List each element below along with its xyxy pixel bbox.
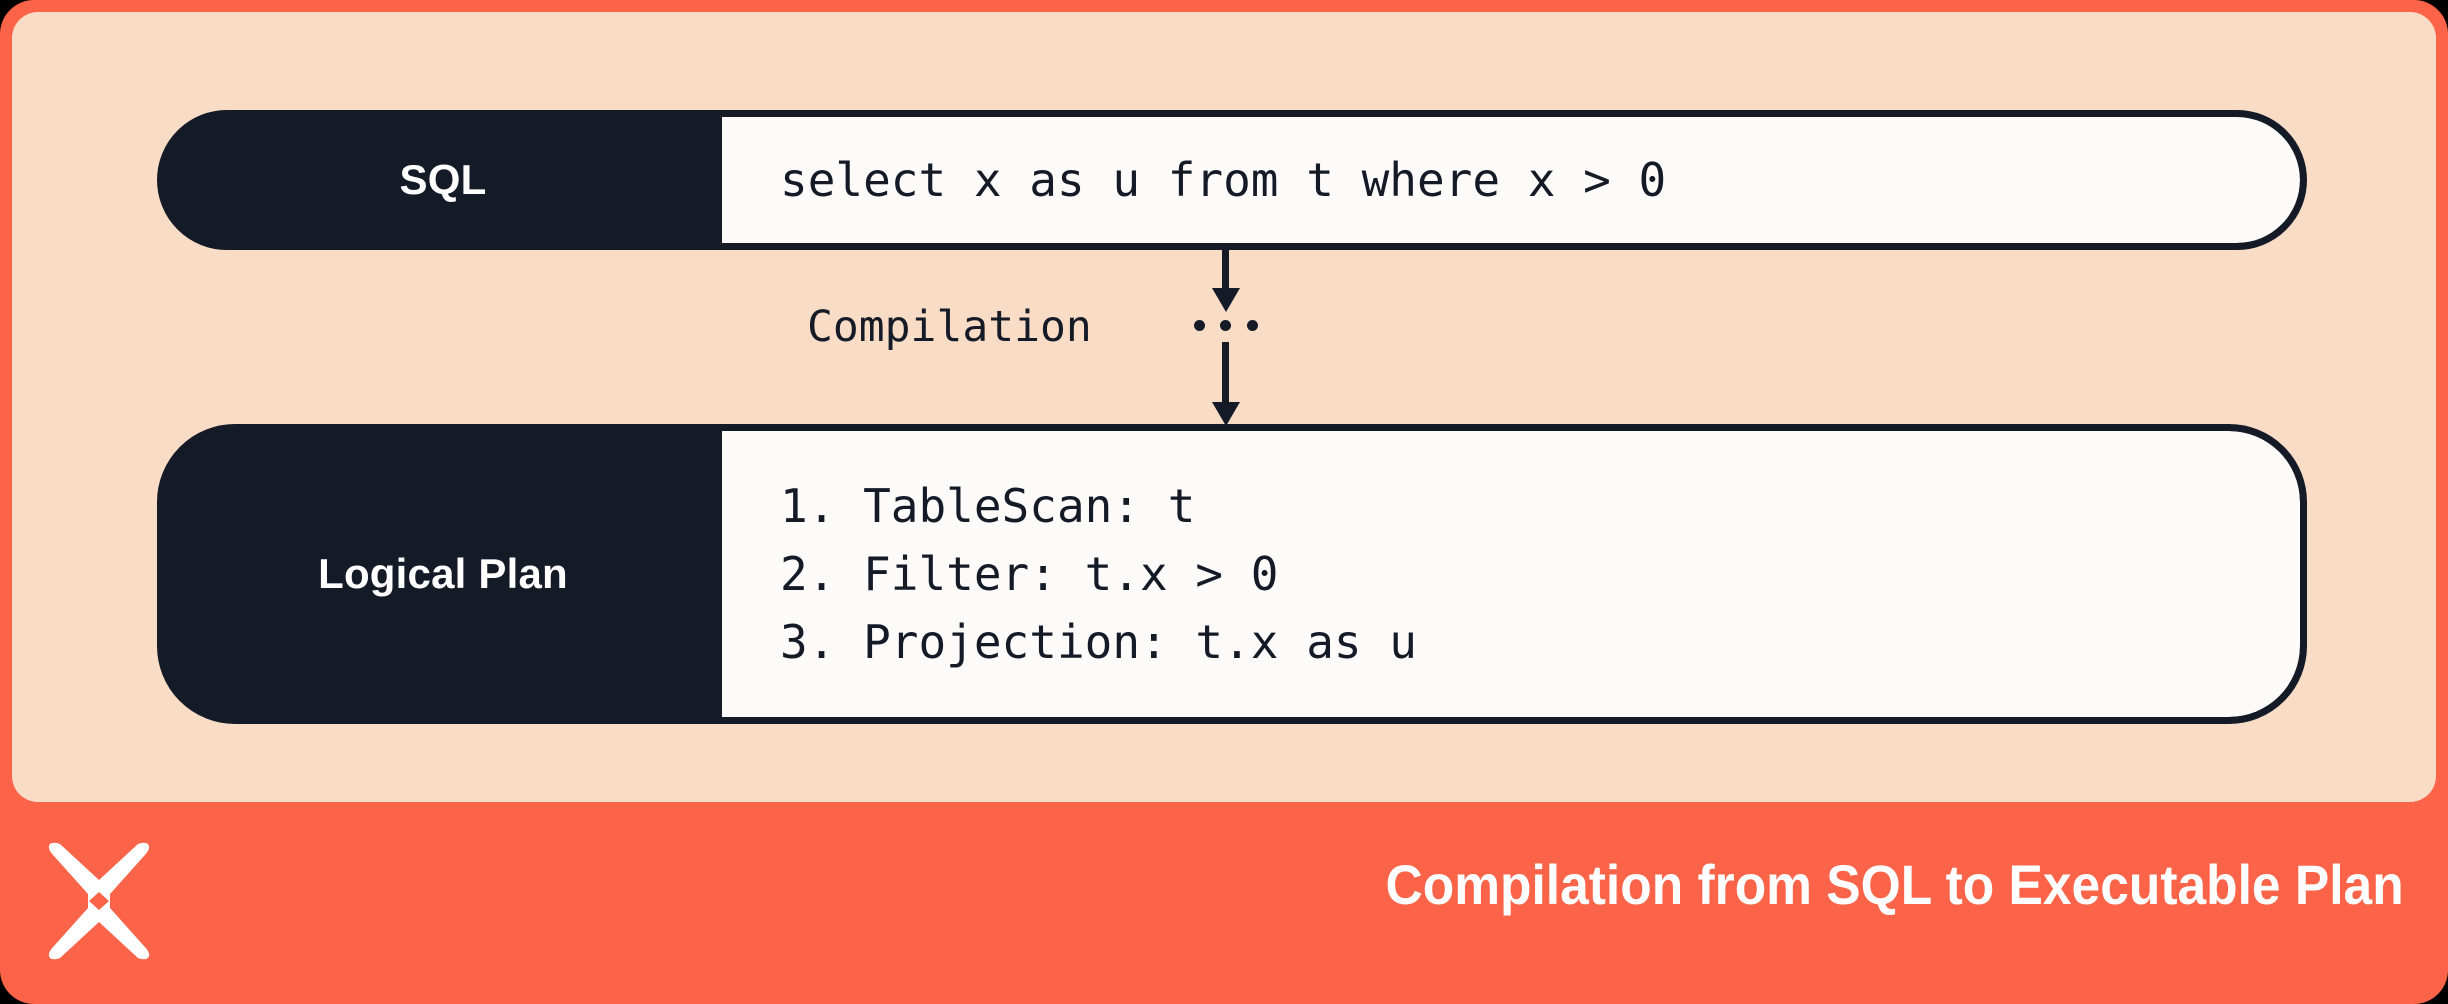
ellipsis-dot-2 xyxy=(1220,320,1231,331)
logical-plan-step-2: 2. Filter: t.x > 0 xyxy=(780,540,2300,608)
arrow-stem xyxy=(1222,342,1229,404)
footer-bar: Compilation from SQL to Executable Plan xyxy=(0,802,2448,1004)
ellipsis-dot-3 xyxy=(1247,320,1258,331)
logical-plan-label-cell: Logical Plan xyxy=(164,431,722,717)
logical-plan-step-1: 1. TableScan: t xyxy=(780,472,2300,540)
diagram-root: SQL select x as u from t where x > 0 Com… xyxy=(0,0,2448,1004)
sql-label-cell: SQL xyxy=(164,117,722,243)
logical-plan-content-cell: 1. TableScan: t 2. Filter: t.x > 0 3. Pr… xyxy=(722,431,2300,717)
ellipsis-dot-1 xyxy=(1194,320,1205,331)
ellipsis-icon xyxy=(1194,308,1258,342)
sql-content-cell: select x as u from t where x > 0 xyxy=(722,117,2300,243)
footer-title: Compilation from SQL to Executable Plan xyxy=(1386,852,2404,917)
compilation-arrow-top-icon xyxy=(1208,250,1242,310)
sql-label: SQL xyxy=(400,156,487,204)
logical-plan-label: Logical Plan xyxy=(318,550,568,598)
logical-plan-row: Logical Plan 1. TableScan: t 2. Filter: … xyxy=(157,424,2307,724)
compilation-arrow-bottom-icon xyxy=(1208,342,1242,426)
sql-query-text: select x as u from t where x > 0 xyxy=(780,153,1666,207)
butterfly-x-logo-icon xyxy=(40,842,158,960)
logical-plan-step-3: 3. Projection: t.x as u xyxy=(780,608,2300,676)
content-panel: SQL select x as u from t where x > 0 Com… xyxy=(12,12,2436,802)
outer-card: SQL select x as u from t where x > 0 Com… xyxy=(0,0,2448,1004)
arrow-head xyxy=(1212,402,1240,426)
sql-row: SQL select x as u from t where x > 0 xyxy=(157,110,2307,250)
arrow-stem xyxy=(1222,250,1229,290)
compilation-label: Compilation xyxy=(807,302,1092,352)
